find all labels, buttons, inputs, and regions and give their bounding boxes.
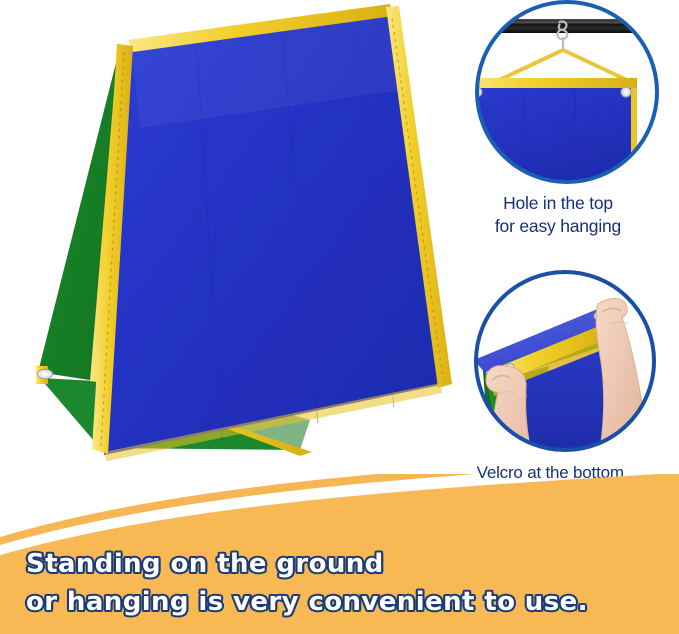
hero-grommet-icon: [38, 369, 53, 378]
grommet-icon: [621, 87, 631, 97]
banner-body: [0, 474, 679, 634]
velcro-bottom-inset: [452, 268, 678, 458]
hole-in-top-caption: Hole in the top for easy hanging: [437, 192, 679, 238]
hero-blue-front-panel: [104, 8, 440, 455]
hero-product-image: [0, 0, 460, 500]
bottom-banner: [0, 474, 679, 634]
product-feature-graphic: Hole in the top for easy hanging: [0, 0, 679, 634]
hole-in-top-inset: [455, 0, 679, 188]
